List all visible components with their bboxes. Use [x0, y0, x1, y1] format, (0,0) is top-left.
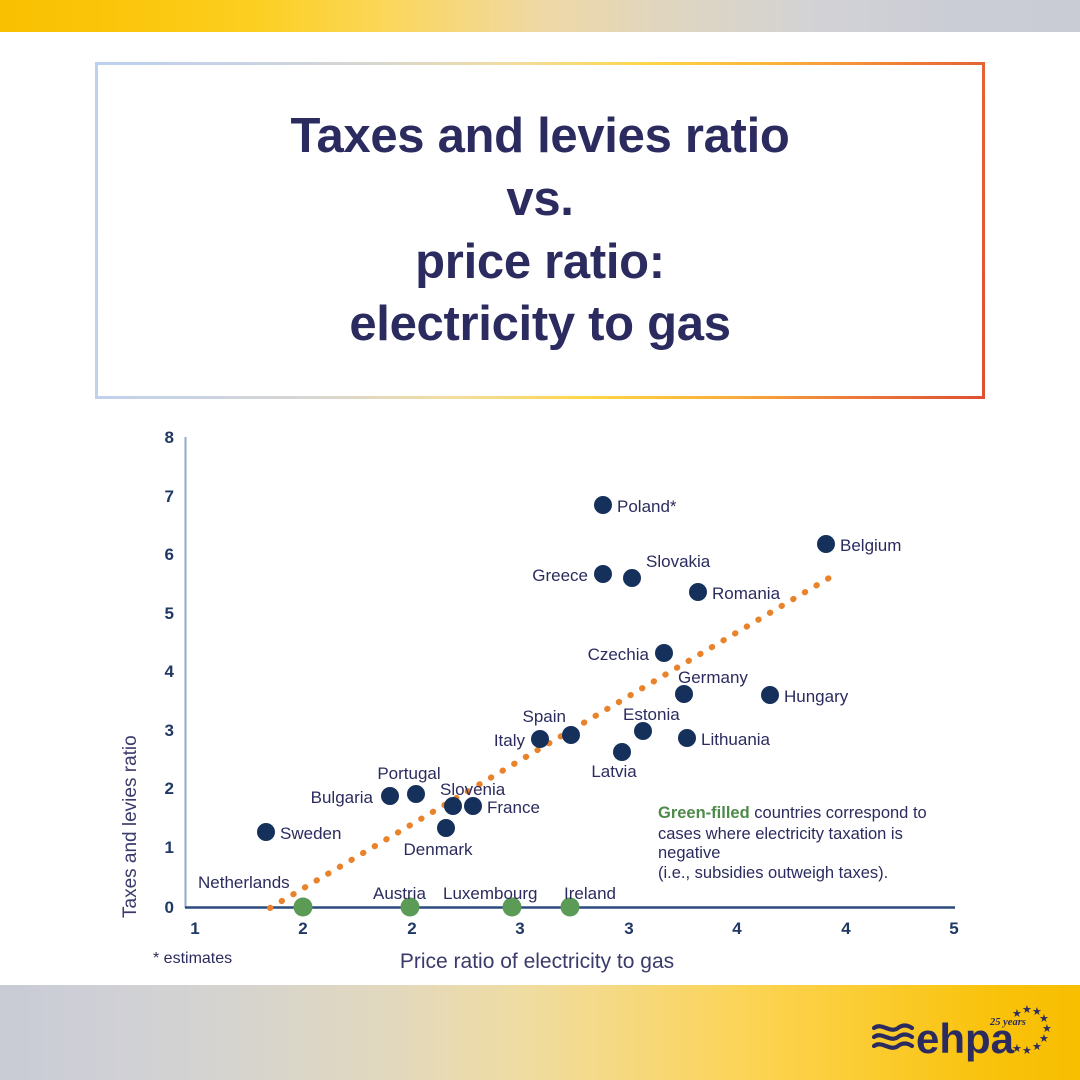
- page-title-line-1: Taxes and levies ratio: [290, 105, 789, 168]
- point-latvia[interactable]: [613, 743, 631, 761]
- wave-icon: [874, 1025, 912, 1047]
- y-tick-labels: 8 7 6 5 4 3 2 1 0: [165, 428, 175, 917]
- y-tick-5: 5: [165, 604, 174, 623]
- legend-note: Green-filled countries correspond to cas…: [658, 804, 927, 882]
- label-slovenia: Slovenia: [440, 780, 506, 799]
- y-tick-2: 2: [165, 779, 174, 798]
- x-tick-0: 1: [190, 919, 199, 938]
- point-italy[interactable]: [531, 730, 549, 748]
- label-portugal: Portugal: [377, 764, 440, 783]
- label-germany: Germany: [678, 668, 748, 687]
- estimates-footnote: * estimates: [153, 950, 232, 967]
- svg-text:★: ★: [1012, 1042, 1022, 1055]
- ehpa-logo: ehpa 25 years ★ ★ ★ ★ ★ ★ ★ ★ ★: [872, 1004, 1052, 1066]
- point-lithuania[interactable]: [678, 729, 696, 747]
- point-france[interactable]: [464, 797, 482, 815]
- svg-text:★: ★: [1022, 1004, 1032, 1016]
- y-tick-3: 3: [165, 721, 174, 740]
- label-hungary: Hungary: [784, 687, 849, 706]
- legend-note-strong: Green-filled: [658, 804, 750, 822]
- x-tick-1: 2: [298, 919, 307, 938]
- label-netherlands: Netherlands: [198, 873, 290, 892]
- point-greece[interactable]: [594, 565, 612, 583]
- legend-note-line3: negative: [658, 844, 720, 862]
- point-sweden[interactable]: [257, 823, 275, 841]
- y-tick-6: 6: [165, 545, 174, 564]
- point-denmark[interactable]: [437, 819, 455, 837]
- x-tick-6: 4: [841, 919, 851, 938]
- point-hungary[interactable]: [761, 686, 779, 704]
- point-spain[interactable]: [562, 726, 580, 744]
- legend-note-line2: cases where electricity taxation is: [658, 825, 903, 843]
- y-tick-0: 0: [165, 898, 174, 917]
- label-slovakia: Slovakia: [646, 552, 711, 571]
- point-poland[interactable]: [594, 496, 612, 514]
- page-title-line-2: vs.: [506, 168, 573, 231]
- label-belgium: Belgium: [840, 536, 901, 555]
- svg-text:Green-filled countries corresp: Green-filled countries correspond to: [658, 804, 927, 822]
- label-france: France: [487, 798, 540, 817]
- x-tick-5: 4: [732, 919, 742, 938]
- point-czechia[interactable]: [655, 644, 673, 662]
- point-germany[interactable]: [675, 685, 693, 703]
- point-portugal[interactable]: [407, 785, 425, 803]
- svg-text:★: ★: [1012, 1007, 1022, 1020]
- label-czechia: Czechia: [588, 645, 650, 664]
- top-gradient-bar: [0, 0, 1080, 32]
- y-tick-4: 4: [165, 662, 175, 681]
- x-tick-2: 2: [407, 919, 416, 938]
- scatter-plot-svg: Taxes and levies ratio 8 7 6 5 4 3 2 1 0…: [0, 410, 1080, 985]
- point-romania[interactable]: [689, 583, 707, 601]
- y-tick-7: 7: [165, 487, 174, 506]
- svg-text:★: ★: [1032, 1040, 1042, 1053]
- y-tick-1: 1: [165, 838, 174, 857]
- page-title-line-4: electricity to gas: [349, 293, 730, 356]
- label-italy: Italy: [494, 731, 526, 750]
- label-bulgaria: Bulgaria: [311, 788, 374, 807]
- point-slovakia[interactable]: [623, 569, 641, 587]
- label-latvia: Latvia: [591, 762, 637, 781]
- scatter-chart: Taxes and levies ratio 8 7 6 5 4 3 2 1 0…: [0, 410, 1080, 985]
- x-axis-title: Price ratio of electricity to gas: [400, 950, 674, 973]
- label-sweden: Sweden: [280, 824, 341, 843]
- point-belgium[interactable]: [817, 535, 835, 553]
- x-tick-labels: 1 2 2 3 3 4 4 5: [190, 919, 958, 938]
- legend-note-line1: countries correspond to: [750, 804, 927, 822]
- y-tick-8: 8: [165, 428, 174, 447]
- label-romania: Romania: [712, 584, 781, 603]
- title-card: Taxes and levies ratio vs. price ratio: …: [95, 62, 985, 399]
- x-tick-4: 3: [624, 919, 633, 938]
- label-austria: Austria: [373, 884, 426, 903]
- point-bulgaria[interactable]: [381, 787, 399, 805]
- x-tick-3: 3: [515, 919, 524, 938]
- label-lithuania: Lithuania: [701, 730, 771, 749]
- label-estonia: Estonia: [623, 705, 680, 724]
- point-netherlands[interactable]: [294, 898, 313, 917]
- y-axis-title: Taxes and levies ratio: [120, 735, 141, 918]
- point-estonia[interactable]: [634, 722, 652, 740]
- label-greece: Greece: [532, 566, 588, 585]
- x-tick-7: 5: [949, 919, 958, 938]
- legend-note-line4: (i.e., subsidies outweigh taxes).: [658, 864, 888, 882]
- label-denmark: Denmark: [404, 840, 473, 859]
- label-ireland: Ireland: [564, 884, 616, 903]
- svg-text:★: ★: [1022, 1044, 1032, 1057]
- label-luxembourg: Luxembourg: [443, 884, 538, 903]
- eu-stars-icon: ★ ★ ★ ★ ★ ★ ★ ★ ★: [1012, 1004, 1052, 1057]
- page-title-line-3: price ratio:: [415, 231, 665, 294]
- label-poland: Poland*: [617, 497, 677, 516]
- label-spain: Spain: [523, 707, 566, 726]
- point-slovenia[interactable]: [444, 797, 462, 815]
